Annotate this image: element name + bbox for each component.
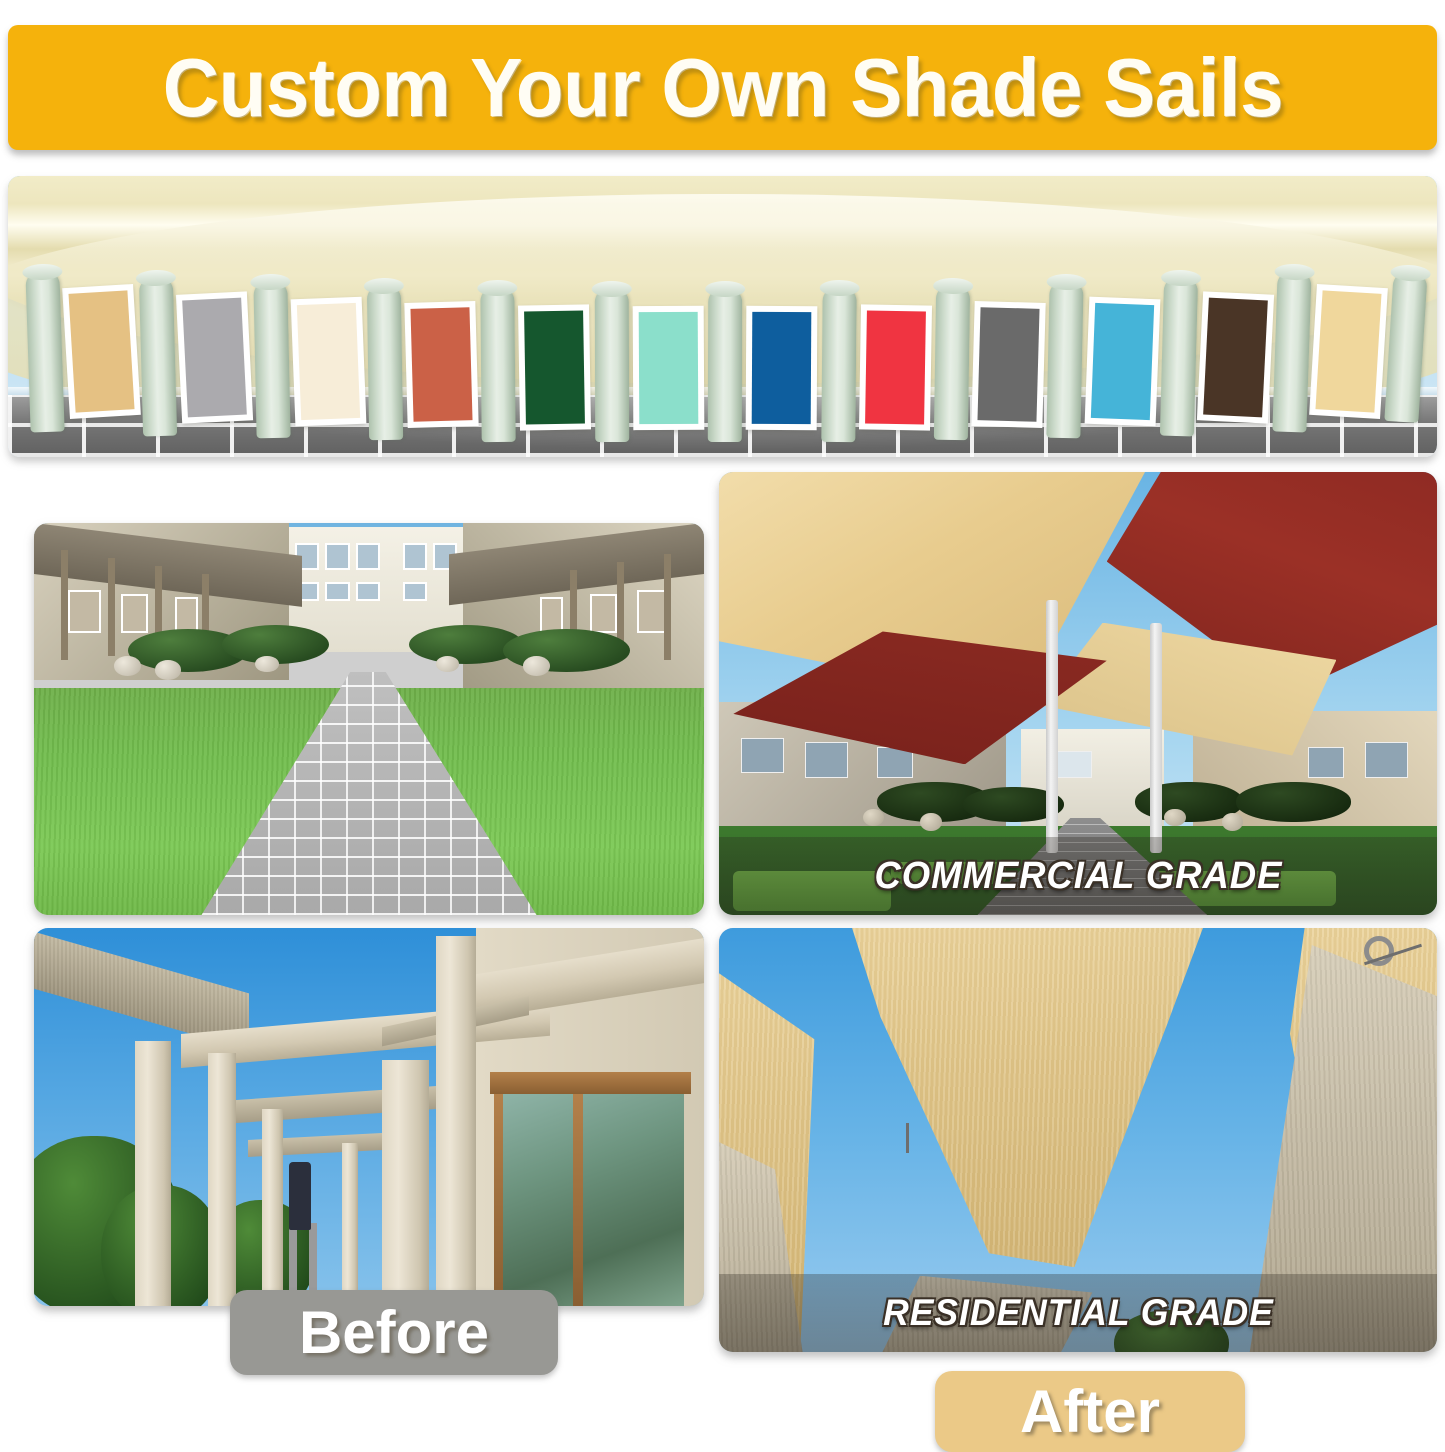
window	[121, 594, 148, 633]
post	[108, 558, 115, 656]
color-swatch-terracotta[interactable]	[404, 301, 479, 428]
pergola-column	[262, 1109, 283, 1306]
door-mullion	[573, 1094, 584, 1306]
colonnade	[8, 176, 1437, 457]
window	[741, 738, 784, 773]
rock	[1222, 813, 1244, 831]
color-swatch-beige[interactable]	[1310, 284, 1389, 419]
commercial-caption-band: COMMERCIAL GRADE	[719, 837, 1437, 915]
pergola-column	[382, 1060, 429, 1306]
sliding-glass-door	[496, 1094, 684, 1306]
door-header	[490, 1072, 691, 1095]
rock	[1164, 809, 1186, 827]
colonnade-column	[1384, 271, 1427, 423]
color-swatch-mint-green[interactable]	[633, 306, 705, 430]
color-swatch-light-grey[interactable]	[176, 291, 254, 423]
colonnade-column	[367, 284, 403, 440]
before-label-text: Before	[299, 1298, 489, 1367]
window	[68, 590, 102, 633]
rock	[255, 656, 278, 672]
color-swatch-fill	[1316, 290, 1382, 412]
window	[325, 543, 349, 570]
rock	[114, 656, 141, 676]
after-label-badge: After	[935, 1371, 1245, 1452]
color-options-panel	[8, 176, 1437, 457]
rock	[523, 656, 550, 676]
pergola-before-photo[interactable]	[34, 928, 704, 1306]
window	[540, 597, 563, 632]
color-swatch-fill	[296, 303, 360, 420]
colonnade-column	[595, 288, 629, 442]
colonnade-column	[253, 281, 290, 438]
after-label-text: After	[1020, 1377, 1160, 1446]
color-swatch-dark-green[interactable]	[518, 304, 591, 430]
residential-caption-band: RESIDENTIAL GRADE	[719, 1274, 1437, 1352]
colonnade-column	[139, 276, 177, 435]
rock	[155, 660, 182, 680]
page-title: Custom Your Own Shade Sails	[162, 40, 1282, 136]
post	[664, 554, 671, 660]
colonnade-column	[1273, 271, 1312, 433]
color-swatch-sand[interactable]	[62, 284, 141, 419]
window	[175, 597, 198, 632]
worker	[289, 1162, 312, 1230]
color-swatch-turquoise[interactable]	[1084, 297, 1160, 426]
color-swatch-fill	[978, 307, 1041, 422]
residential-grade-label: RESIDENTIAL GRADE	[883, 1292, 1274, 1334]
color-swatch-fill	[1090, 303, 1154, 420]
window	[403, 543, 427, 570]
window	[805, 742, 848, 777]
courtyard-before-photo[interactable]	[34, 523, 704, 915]
window	[403, 582, 427, 602]
colonnade-column	[1160, 276, 1198, 435]
support-pole	[1150, 623, 1162, 853]
header-banner: Custom Your Own Shade Sails	[8, 25, 1437, 150]
color-swatch-fill	[639, 312, 699, 424]
pergola-residential-photo[interactable]: RESIDENTIAL GRADE	[719, 928, 1437, 1352]
hedge	[1236, 782, 1351, 822]
color-swatch-brown[interactable]	[1197, 291, 1275, 423]
colonnade-column	[934, 284, 970, 440]
colonnade-column	[481, 287, 516, 442]
pergola-column	[342, 1143, 358, 1306]
colonnade-column	[1047, 281, 1084, 438]
color-swatch-fill	[1203, 297, 1268, 416]
window	[1308, 747, 1344, 778]
rock	[436, 656, 459, 672]
color-swatch-fill	[68, 290, 134, 412]
pergola-column	[208, 1053, 236, 1306]
window	[356, 582, 380, 602]
commercial-grade-label: COMMERCIAL GRADE	[874, 855, 1282, 898]
color-swatch-fill	[752, 312, 812, 424]
before-label-badge: Before	[230, 1290, 558, 1375]
courtyard-commercial-photo[interactable]: COMMERCIAL GRADE	[719, 472, 1437, 915]
door-jamb	[494, 1094, 503, 1306]
window	[356, 543, 380, 570]
tension-wire	[906, 1123, 909, 1153]
rock	[920, 813, 942, 831]
hedge	[503, 629, 630, 672]
color-swatch-fill	[865, 310, 926, 423]
post	[61, 550, 68, 660]
color-swatch-fill	[411, 307, 474, 422]
pergola-column	[436, 936, 476, 1306]
color-swatch-royal-blue[interactable]	[746, 306, 818, 430]
colonnade-column	[821, 287, 856, 442]
colonnade-column	[25, 271, 64, 433]
window	[325, 582, 349, 602]
pergola-column	[135, 1041, 172, 1306]
color-swatch-fill	[525, 310, 586, 423]
color-swatch-dark-grey[interactable]	[971, 301, 1046, 428]
color-swatch-cream[interactable]	[290, 297, 366, 426]
window	[590, 594, 617, 633]
support-pole	[1046, 600, 1058, 853]
color-swatch-red[interactable]	[859, 304, 932, 430]
window	[1365, 742, 1408, 777]
colonnade-column	[708, 288, 742, 442]
color-swatch-fill	[182, 297, 247, 416]
